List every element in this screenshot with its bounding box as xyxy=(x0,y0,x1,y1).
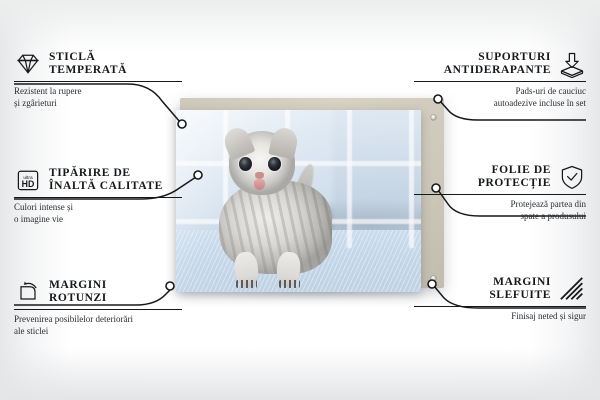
feature-title-line-1: MARGINI xyxy=(49,279,107,293)
glass-panel xyxy=(176,110,421,292)
photo-kitten xyxy=(210,128,362,288)
feature-rule xyxy=(414,81,586,82)
feature-head: STICLĂ TEMPERATĂ xyxy=(14,50,182,78)
product-image xyxy=(176,98,444,296)
feature-title-line-1: STICLĂ xyxy=(49,51,127,65)
feature-tempered-glass: STICLĂ TEMPERATĂ Rezistent la rupere și … xyxy=(14,50,182,109)
feature-rule xyxy=(14,309,182,310)
feature-subtitle-line-1: Pads-uri de cauciuc xyxy=(414,86,586,98)
ultra-hd-icon-main-label: HD xyxy=(22,179,35,189)
diamond-icon xyxy=(14,50,42,78)
feature-title-line-2: ANTIDERAPANTE xyxy=(444,64,551,78)
feature-head: ultra HD TIPĂRIRE DE ÎNALTĂ CALITATE xyxy=(14,166,182,194)
feature-rule xyxy=(414,194,586,195)
kitten-ear-right xyxy=(268,126,299,160)
feature-title-line-2: SLEFUITE xyxy=(489,289,551,303)
kitten-tongue xyxy=(254,179,265,190)
infographic-canvas: STICLĂ TEMPERATĂ Rezistent la rupere și … xyxy=(0,0,600,400)
feature-protective-foil: FOLIE DE PROTECȚIE Protejează partea din… xyxy=(414,163,586,222)
feature-subtitle-line-2: autoadezive incluse în set xyxy=(414,98,586,110)
feature-title-line-2: ROTUNZI xyxy=(49,292,107,306)
kitten-claws-left xyxy=(236,280,257,288)
feature-subtitle-line-1: Prevenirea posibilelor deteriorări xyxy=(14,314,182,326)
feature-head: SUPORTURI ANTIDERAPANTE xyxy=(414,50,586,78)
feature-rule xyxy=(14,197,182,198)
feature-head: MARGINI SLEFUITE xyxy=(414,275,586,303)
feature-rule xyxy=(414,306,586,307)
feature-subtitle-line-1: Protejează partea din xyxy=(414,199,586,211)
feature-subtitle-line-1: Culori intense și xyxy=(14,202,182,214)
feature-title-line-2: PROTECȚIE xyxy=(478,177,551,191)
feature-subtitle-line-2: ale sticlei xyxy=(14,326,182,338)
feature-title-line-1: FOLIE DE xyxy=(478,164,551,178)
mounting-screw-top-right xyxy=(431,115,436,120)
vignette-top xyxy=(0,0,600,52)
feature-title-line-1: TIPĂRIRE DE xyxy=(49,167,163,181)
feature-rule xyxy=(14,81,182,82)
feature-head: FOLIE DE PROTECȚIE xyxy=(414,163,586,191)
feature-title-line-2: ÎNALTĂ CALITATE xyxy=(49,180,163,194)
feature-subtitle-line-1: Rezistent la rupere xyxy=(14,86,182,98)
kitten-claws-right xyxy=(279,280,300,288)
rounded-corner-icon xyxy=(14,278,42,306)
press-pad-icon xyxy=(558,50,586,78)
feature-subtitle-line-2: și zgârieturi xyxy=(14,98,182,110)
feature-head: MARGINI ROTUNZI xyxy=(14,278,182,306)
feature-title-line-1: SUPORTURI xyxy=(444,51,551,65)
vignette-bottom xyxy=(0,348,600,400)
feature-subtitle-line-2: spate a produsului xyxy=(414,211,586,223)
feature-anti-slip-supports: SUPORTURI ANTIDERAPANTE Pads-uri de cauc… xyxy=(414,50,586,109)
feature-polished-edges: MARGINI SLEFUITE Finisaj neted și sigur xyxy=(414,275,586,323)
feature-subtitle-line-1: Finisaj neted și sigur xyxy=(414,311,586,323)
feature-title-line-1: MARGINI xyxy=(489,276,551,290)
feature-rounded-edges: MARGINI ROTUNZI Prevenirea posibilelor d… xyxy=(14,278,182,337)
ultra-hd-icon: ultra HD xyxy=(14,166,42,194)
feature-subtitle-line-2: o imagine vie xyxy=(14,214,182,226)
shield-check-icon xyxy=(558,163,586,191)
feature-high-quality-print: ultra HD TIPĂRIRE DE ÎNALTĂ CALITATE Cul… xyxy=(14,166,182,225)
hatch-lines-icon xyxy=(558,275,586,303)
feature-title-line-2: TEMPERATĂ xyxy=(49,64,127,78)
printed-photo xyxy=(176,110,421,292)
